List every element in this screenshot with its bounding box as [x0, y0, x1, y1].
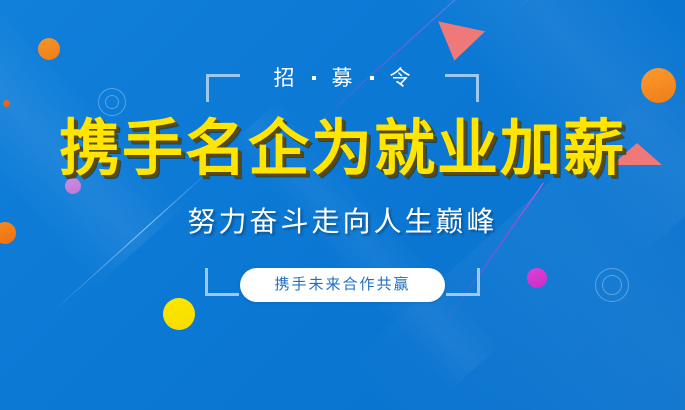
eyebrow-text: 招 募 令	[274, 68, 412, 91]
recruitment-banner: 招 募 令 携手名企为就业加薪 努力奋斗走向人生巅峰 携手未来合作共赢	[0, 0, 685, 410]
eyebrow-row: 招 募 令	[0, 68, 685, 91]
banner-content: 招 募 令 携手名企为就业加薪 努力奋斗走向人生巅峰 携手未来合作共赢	[0, 0, 685, 410]
eyebrow-separator-dot-1	[312, 76, 316, 80]
cta-pill-button[interactable]: 携手未来合作共赢	[240, 268, 444, 302]
pill-row: 携手未来合作共赢	[0, 268, 685, 302]
subheadline: 努力奋斗走向人生巅峰	[0, 208, 685, 236]
eyebrow-char-2: 募	[332, 68, 354, 89]
headline: 携手名企为就业加薪	[0, 118, 685, 179]
eyebrow-separator-dot-2	[370, 76, 374, 80]
eyebrow-char-3: 令	[390, 68, 412, 89]
eyebrow-char-1: 招	[274, 68, 296, 89]
